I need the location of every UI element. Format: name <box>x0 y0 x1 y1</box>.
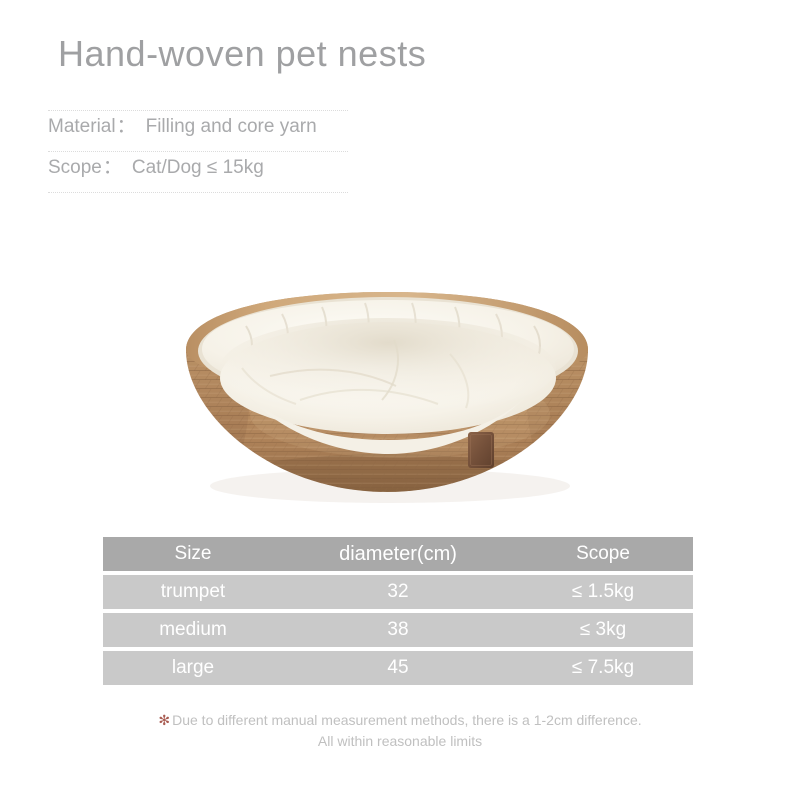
cell-diameter: 38 <box>283 619 513 641</box>
cell-size: medium <box>103 619 283 641</box>
cell-scope: ≤ 1.5kg <box>513 581 693 603</box>
size-table: Size diameter(cm) Scope trumpet 32 ≤ 1.5… <box>103 537 693 689</box>
page-title: Hand-woven pet nests <box>58 33 426 75</box>
cell-size: trumpet <box>103 581 283 603</box>
spec-row-material: Material ： Filling and core yarn <box>48 111 348 151</box>
spec-divider-bottom <box>48 192 348 193</box>
measurement-disclaimer: ✻Due to different manual measurement met… <box>0 710 800 752</box>
column-header-scope: Scope <box>513 543 693 565</box>
table-row: large 45 ≤ 7.5kg <box>103 651 693 685</box>
cell-scope: ≤ 7.5kg <box>513 657 693 679</box>
column-header-diameter: diameter(cm) <box>283 543 513 566</box>
product-detail-page: Hand-woven pet nests Material ： Filling … <box>0 0 800 800</box>
disclaimer-line-2: All within reasonable limits <box>0 731 800 752</box>
spec-colon-material: ： <box>116 111 146 138</box>
asterisk-icon: ✻ <box>158 712 172 728</box>
cell-diameter: 45 <box>283 657 513 679</box>
cell-size: large <box>103 657 283 679</box>
column-header-size: Size <box>103 543 283 565</box>
table-row: medium 38 ≤ 3kg <box>103 613 693 647</box>
spec-value-scope: Cat/Dog ≤ 15kg <box>132 157 264 179</box>
spec-label-scope: Scope <box>48 157 102 179</box>
spec-list: Material ： Filling and core yarn Scope ：… <box>48 110 348 193</box>
table-row: trumpet 32 ≤ 1.5kg <box>103 575 693 609</box>
spec-colon-scope: ： <box>102 152 132 179</box>
spec-label-material: Material <box>48 116 116 138</box>
disclaimer-text-1: Due to different manual measurement meth… <box>172 712 642 728</box>
spec-value-material: Filling and core yarn <box>146 116 317 138</box>
leather-tag <box>468 432 494 468</box>
cell-diameter: 32 <box>283 581 513 603</box>
cell-scope: ≤ 3kg <box>513 619 693 641</box>
table-header-row: Size diameter(cm) Scope <box>103 537 693 571</box>
disclaimer-line-1: ✻Due to different manual measurement met… <box>0 710 800 731</box>
product-photo <box>150 218 620 518</box>
spec-row-scope: Scope ： Cat/Dog ≤ 15kg <box>48 152 348 192</box>
